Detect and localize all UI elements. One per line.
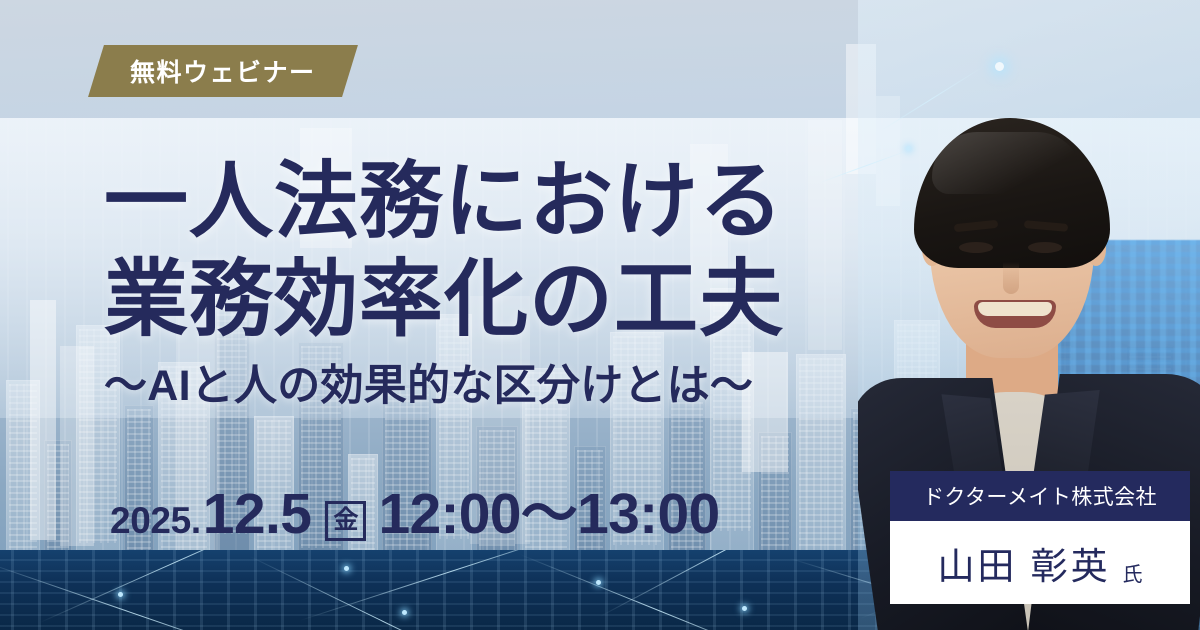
- subtitle: 〜AIと人の効果的な区分けとは〜: [104, 351, 864, 413]
- schedule-time: 12:00〜13:00: [378, 468, 719, 550]
- schedule-day-of-week: 金: [325, 501, 366, 541]
- portrait-teeth: [978, 302, 1052, 316]
- light-bar: [60, 346, 94, 546]
- webinar-banner: 無料ウェビナー 一人法務における 業務効率化の工夫 〜AIと人の効果的な区分けと…: [0, 0, 1200, 630]
- free-webinar-badge: 無料ウェビナー: [88, 45, 357, 97]
- speaker-info-plate: ドクターメイト株式会社 山田 彰英 氏: [890, 471, 1190, 604]
- title-line-1: 一人法務における: [104, 160, 864, 242]
- badge-label: 無料ウェビナー: [130, 53, 316, 89]
- schedule-year: 2025.: [110, 500, 201, 542]
- schedule-month-day: 12.5: [203, 481, 312, 547]
- portrait-nose: [1003, 262, 1019, 294]
- speaker-honorific: 氏: [1123, 558, 1143, 587]
- portrait-mouth: [974, 300, 1056, 328]
- headline-block: 一人法務における 業務効率化の工夫 〜AIと人の効果的な区分けとは〜: [104, 160, 864, 413]
- portrait-eye-left: [959, 242, 993, 253]
- speaker-name: 山田 彰英: [937, 536, 1110, 590]
- light-bar: [30, 300, 56, 540]
- speaker-name-bar: 山田 彰英 氏: [890, 521, 1190, 604]
- speaker-company-bar: ドクターメイト株式会社: [890, 471, 1190, 521]
- speaker-company-name: ドクターメイト株式会社: [923, 481, 1157, 511]
- portrait-eye-right: [1028, 242, 1062, 253]
- schedule-row: 2025. 12.5 金 12:00〜13:00: [110, 468, 719, 550]
- title-line-2: 業務効率化の工夫: [104, 258, 864, 340]
